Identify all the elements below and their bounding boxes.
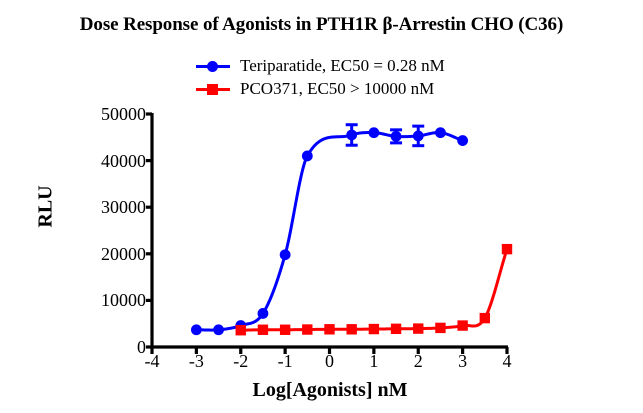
- series-curve-teriparatide: [196, 133, 462, 331]
- data-point-marker: [346, 130, 357, 141]
- data-point-marker: [258, 308, 269, 319]
- data-point-marker: [368, 127, 379, 138]
- data-point-marker: [502, 244, 512, 254]
- data-point-marker: [302, 324, 312, 334]
- data-point-marker: [435, 127, 446, 138]
- series-curve-pco371: [241, 249, 507, 330]
- data-point-marker: [457, 320, 467, 330]
- chart-figure: Dose Response of Agonists in PTH1R β-Arr…: [0, 0, 643, 413]
- data-point-marker: [258, 325, 268, 335]
- data-point-marker: [480, 313, 490, 323]
- data-point-marker: [391, 324, 401, 334]
- data-point-marker: [391, 131, 402, 142]
- data-point-marker: [435, 323, 445, 333]
- data-point-marker: [346, 324, 356, 334]
- data-point-marker: [369, 324, 379, 334]
- data-point-marker: [280, 249, 291, 260]
- data-point-marker: [457, 135, 468, 146]
- data-point-marker: [280, 325, 290, 335]
- data-point-marker: [191, 324, 202, 335]
- plot-area: [0, 0, 643, 413]
- data-point-marker: [324, 324, 334, 334]
- data-point-marker: [213, 324, 224, 335]
- data-point-marker: [413, 131, 424, 142]
- data-point-marker: [302, 151, 313, 162]
- data-point-marker: [236, 325, 246, 335]
- data-point-marker: [413, 323, 423, 333]
